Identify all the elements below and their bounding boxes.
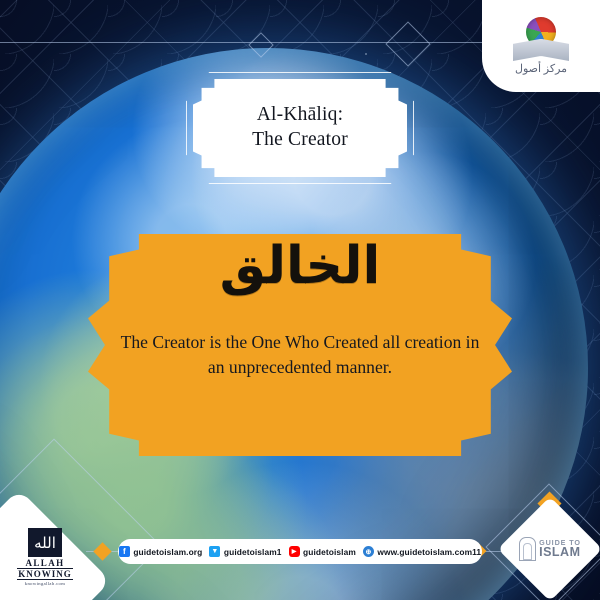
facebook-handle: guidetoislam.org [133,547,202,557]
title-text-block: Al-Khāliq: The Creator [193,79,407,177]
youtube-handle: guidetoislam [303,547,356,557]
guide-to-islam-wordmark: GUIDE TO ISLAM [539,539,581,559]
main-content-cartouche: الخالق The Creator is the One Who Create… [88,234,512,456]
guide-to-islam-logo: GUIDE TO ISLAM [513,512,587,586]
title-line-1: Al-Khāliq: [257,103,343,128]
website-icon: ⊕ [363,546,374,557]
book-icon [513,39,569,61]
twitter-icon: ▼ [209,546,220,557]
social-item-facebook[interactable]: f guidetoislam.org [119,546,203,557]
twitter-handle: guidetoislam1 [224,547,282,557]
decor-line-top [0,42,432,43]
social-footer-bar: f guidetoislam.org ▼ guidetoislam1 ▶ gui… [118,539,482,564]
arabic-calligraphy: الخالق [88,240,512,292]
allah-knowing-url: knowingallah.com [25,581,65,586]
allah-calligraphy-badge: الله [28,528,62,557]
youtube-icon: ▶ [289,546,300,557]
social-item-website[interactable]: ⊕ www.guidetoislam.com11 [363,546,481,557]
facebook-icon: f [119,546,130,557]
title-cartouche: Al-Khāliq: The Creator [193,79,407,177]
markaz-usul-logo: مركز أصول [490,4,592,88]
mosque-arch-icon [519,537,536,561]
social-item-twitter[interactable]: ▼ guidetoislam1 [209,546,281,557]
title-line-2: The Creator [252,128,348,153]
website-url: www.guidetoislam.com11 [377,547,481,557]
allah-knowing-logo: الله ALLAH KNOWING knowingallah.com [8,528,82,586]
body-text: The Creator is the One Who Created all c… [118,330,482,380]
globe-book-icon [513,17,569,61]
poster-canvas: مركز أصول Al-Khāliq: The Creator الخالق … [0,0,600,600]
social-item-youtube[interactable]: ▶ guidetoislam [289,546,356,557]
guide-to-islam-line-2: ISLAM [539,546,581,559]
top-logo-arabic-name: مركز أصول [515,62,567,75]
allah-knowing-line-1: ALLAH [25,558,64,568]
top-right-logo-panel: مركز أصول [482,0,600,92]
allah-knowing-line-2: KNOWING [17,568,73,580]
